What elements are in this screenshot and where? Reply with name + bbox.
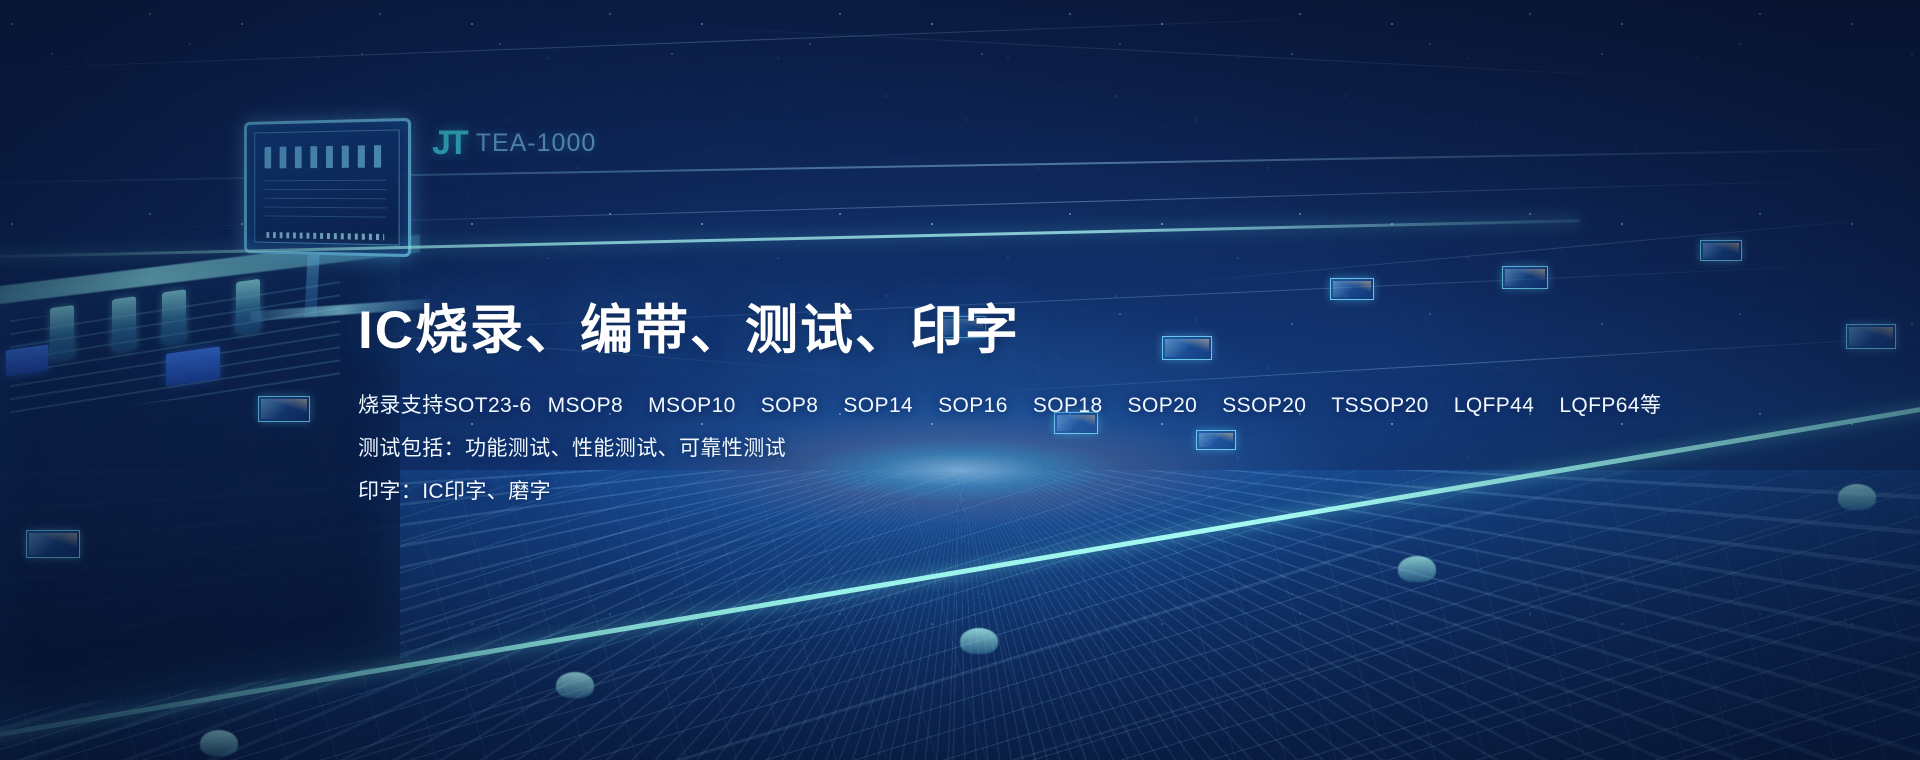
chip-tray-icon <box>1700 240 1742 261</box>
monitor-scanlines-decor <box>265 180 387 226</box>
cylinder-decor <box>162 289 186 344</box>
rail-foot-decor <box>960 628 998 654</box>
chip-tray-icon <box>1330 278 1374 300</box>
testing-scope-line: 测试包括：功能测试、性能测试、可靠性测试 <box>358 434 1558 464</box>
package-item: SOP20 <box>1128 391 1198 421</box>
blue-module-decor <box>6 345 48 377</box>
package-item: SSOP20 <box>1222 391 1306 421</box>
floor-dot-grid-decor <box>0 470 1920 760</box>
hero-banner: JT TEA-1000 IC烧录、编带、测试、印字 烧录支持SOT23-6 MS… <box>0 0 1920 760</box>
equipment-logo-model: TEA-1000 <box>476 129 597 158</box>
package-item: MSOP8 <box>548 391 624 421</box>
chip-tray-icon <box>1502 266 1548 289</box>
streak-line <box>1180 213 1920 283</box>
package-support-line: 烧录支持SOT23-6 MSOP8 MSOP10 SOP8 SOP14 SOP1… <box>358 391 1558 421</box>
marking-scope-line: 印字：IC印字、磨字 <box>358 477 1558 507</box>
package-item: LQFP44 <box>1454 391 1535 421</box>
package-item: SOP14 <box>843 391 913 421</box>
cylinder-decor <box>236 279 260 334</box>
package-list: 烧录支持SOT23-6 MSOP8 MSOP10 SOP8 SOP14 SOP1… <box>358 391 1661 421</box>
streak-line <box>0 16 1359 71</box>
rail-foot-decor <box>556 672 594 698</box>
monitor-key-strip-decor <box>266 232 384 240</box>
chip-tray-icon <box>26 530 80 558</box>
equipment-logo-mark: JT <box>432 124 466 163</box>
hero-content: IC烧录、编带、测试、印字 烧录支持SOT23-6 MSOP8 MSOP10 S… <box>358 300 1558 508</box>
package-item: SOP8 <box>761 391 819 421</box>
cylinder-decor <box>50 305 74 360</box>
rail-foot-decor <box>1838 484 1876 510</box>
package-item: SOP18 <box>1033 391 1103 421</box>
package-item: SOP16 <box>938 391 1008 421</box>
cylinder-decor <box>112 296 136 351</box>
rail-foot-decor <box>200 730 238 756</box>
package-item: TSSOP20 <box>1331 391 1428 421</box>
monitor-screen-decor <box>254 129 399 245</box>
rail-foot-decor <box>1398 556 1436 582</box>
gantry-assembly-decor <box>40 270 320 369</box>
chip-tray-icon <box>258 396 310 422</box>
hero-title: IC烧录、编带、测试、印字 <box>358 300 1558 363</box>
chip-tray-icon <box>1846 324 1896 349</box>
upper-rail-decor <box>0 219 1580 259</box>
crt-monitor-decor <box>244 118 411 257</box>
blue-module-decor <box>166 346 220 386</box>
package-list-lead: 烧录支持SOT23-6 <box>358 391 532 421</box>
equipment-logo: JT TEA-1000 <box>432 124 596 163</box>
hero-subtitle-group: 烧录支持SOT23-6 MSOP8 MSOP10 SOP8 SOP14 SOP1… <box>358 391 1558 508</box>
streak-line <box>640 24 1739 83</box>
package-item: MSOP10 <box>648 391 736 421</box>
monitor-bar-graph-decor <box>265 145 387 168</box>
package-item: LQFP64等 <box>1559 391 1661 421</box>
perspective-floor-decor <box>0 470 1920 760</box>
